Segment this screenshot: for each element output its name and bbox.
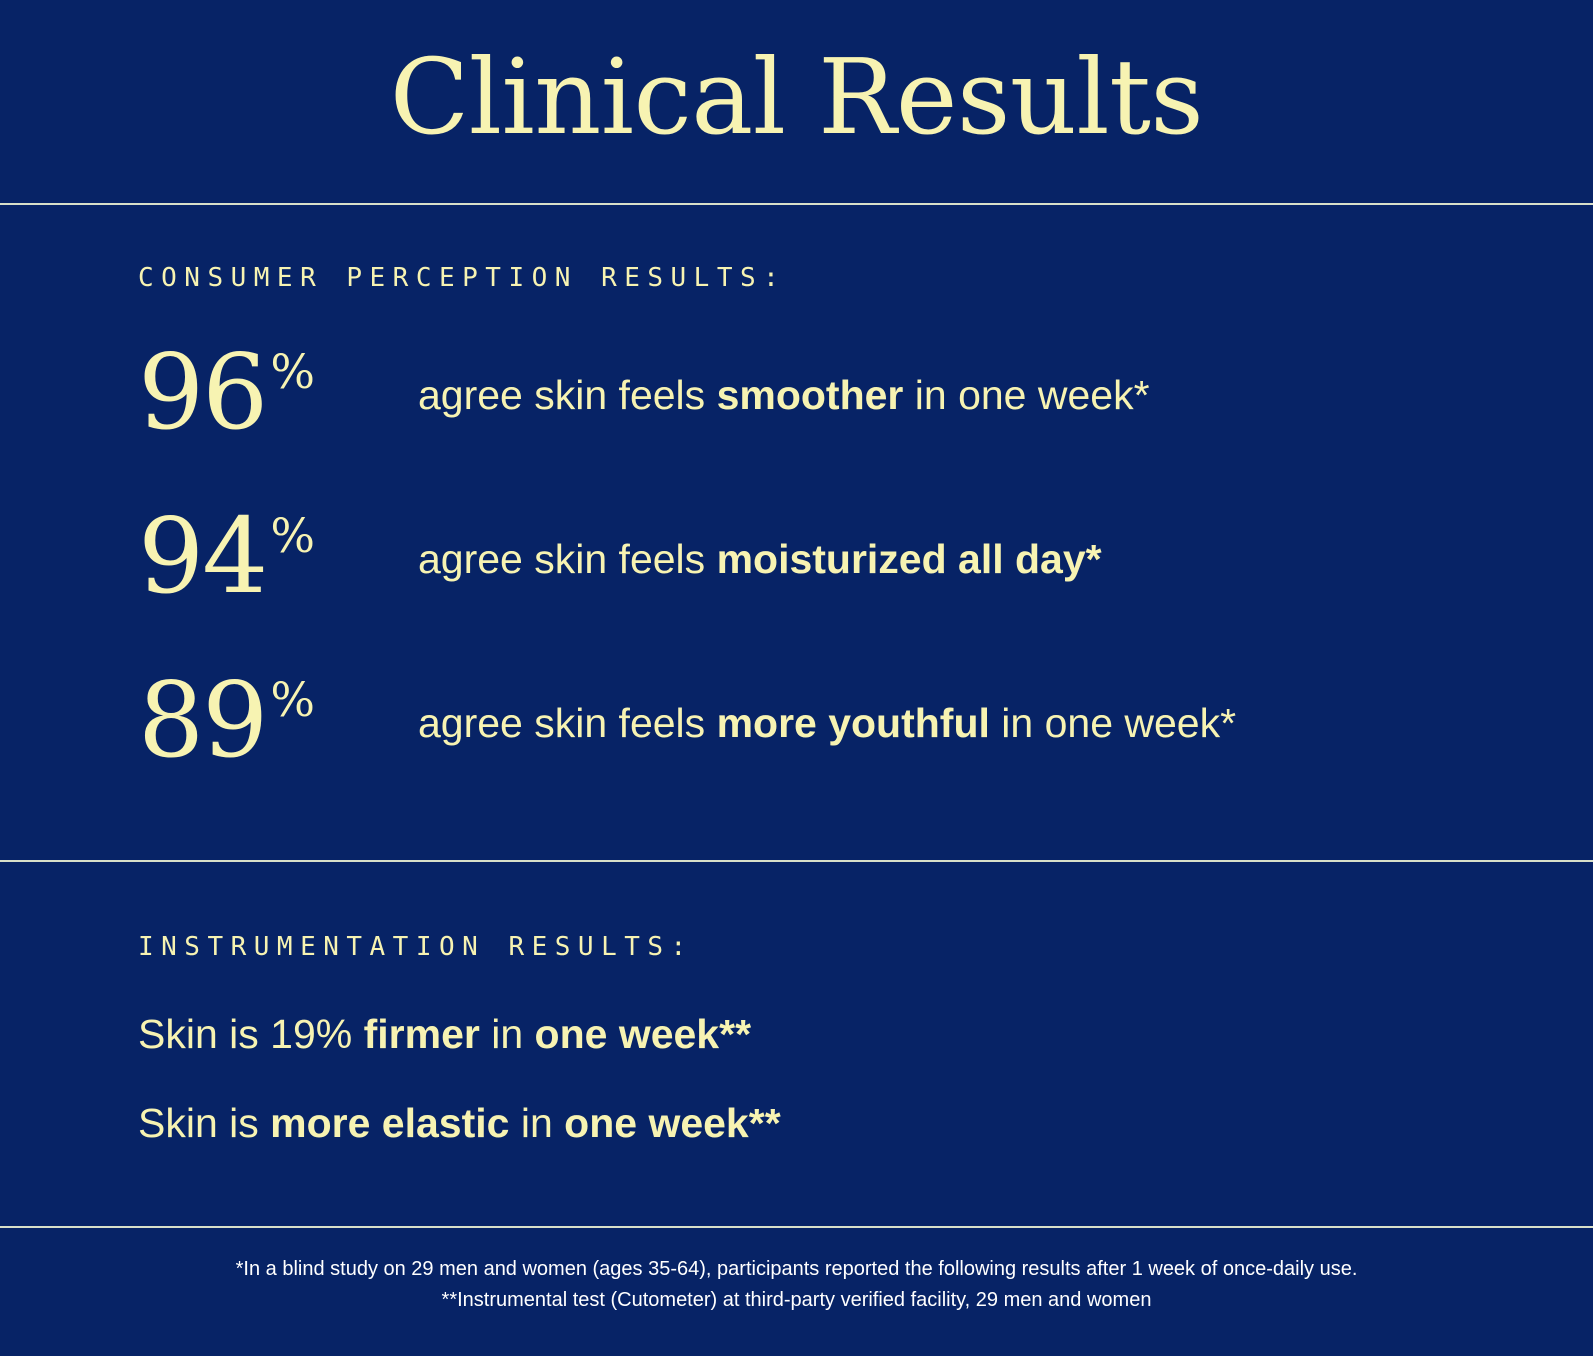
- stat-text-after: in one week*: [903, 372, 1149, 418]
- instrumentation-line: Skin is 19% firmer in one week**: [138, 1014, 1593, 1055]
- stat-text-after: in one week*: [990, 700, 1236, 746]
- stat-figure: 94 %: [138, 509, 418, 605]
- percent-symbol: %: [270, 349, 315, 396]
- stat-figure: 96 %: [138, 345, 418, 441]
- stat-description: agree skin feels moisturized all day*: [418, 509, 1102, 580]
- instr-bold-2: one week**: [564, 1100, 781, 1146]
- instr-bold-1: firmer: [364, 1011, 480, 1057]
- footnotes: *In a blind study on 29 men and women (a…: [0, 1228, 1593, 1356]
- consumer-perception-eyebrow: CONSUMER PERCEPTION RESULTS:: [138, 263, 1593, 293]
- stat-text-bold: more youthful: [717, 700, 990, 746]
- percent-symbol: %: [270, 513, 315, 560]
- page-title: Clinical Results: [390, 45, 1204, 159]
- instrumentation-line: Skin is more elastic in one week**: [138, 1103, 1593, 1144]
- clinical-results-panel: Clinical Results CONSUMER PERCEPTION RES…: [0, 0, 1593, 1356]
- instr-part-1: Skin is 19%: [138, 1011, 364, 1057]
- instrumentation-section: INSTRUMENTATION RESULTS: Skin is 19% fir…: [0, 862, 1593, 1228]
- stat-number: 94: [138, 509, 266, 605]
- stat-row: 94 % agree skin feels moisturized all da…: [138, 509, 1593, 673]
- instr-bold-2: one week**: [535, 1011, 752, 1057]
- stat-number: 96: [138, 345, 266, 441]
- stat-row: 89 % agree skin feels more youthful in o…: [138, 673, 1593, 837]
- stat-description: agree skin feels smoother in one week*: [418, 345, 1150, 416]
- stat-text-before: agree skin feels: [418, 700, 717, 746]
- stat-text-before: agree skin feels: [418, 536, 717, 582]
- header: Clinical Results: [0, 0, 1593, 205]
- instr-part-2: in: [480, 1011, 535, 1057]
- instr-bold-1: more elastic: [270, 1100, 509, 1146]
- consumer-perception-section: CONSUMER PERCEPTION RESULTS: 96 % agree …: [0, 205, 1593, 862]
- instrumentation-lines: Skin is 19% firmer in one week** Skin is…: [138, 1014, 1593, 1144]
- stat-row: 96 % agree skin feels smoother in one we…: [138, 345, 1593, 509]
- consumer-perception-stats: 96 % agree skin feels smoother in one we…: [138, 345, 1593, 837]
- stat-text-before: agree skin feels: [418, 372, 717, 418]
- footnote-primary: *In a blind study on 29 men and women (a…: [236, 1254, 1358, 1285]
- instrumentation-eyebrow: INSTRUMENTATION RESULTS:: [138, 932, 1593, 962]
- instr-part-2: in: [509, 1100, 564, 1146]
- instr-part-1: Skin is: [138, 1100, 270, 1146]
- stat-description: agree skin feels more youthful in one we…: [418, 673, 1236, 744]
- footnote-secondary: **Instrumental test (Cutometer) at third…: [442, 1285, 1152, 1316]
- stat-number: 89: [138, 673, 266, 769]
- stat-text-bold: moisturized all day*: [717, 536, 1102, 582]
- stat-figure: 89 %: [138, 673, 418, 769]
- stat-text-bold: smoother: [717, 372, 904, 418]
- percent-symbol: %: [270, 677, 315, 724]
